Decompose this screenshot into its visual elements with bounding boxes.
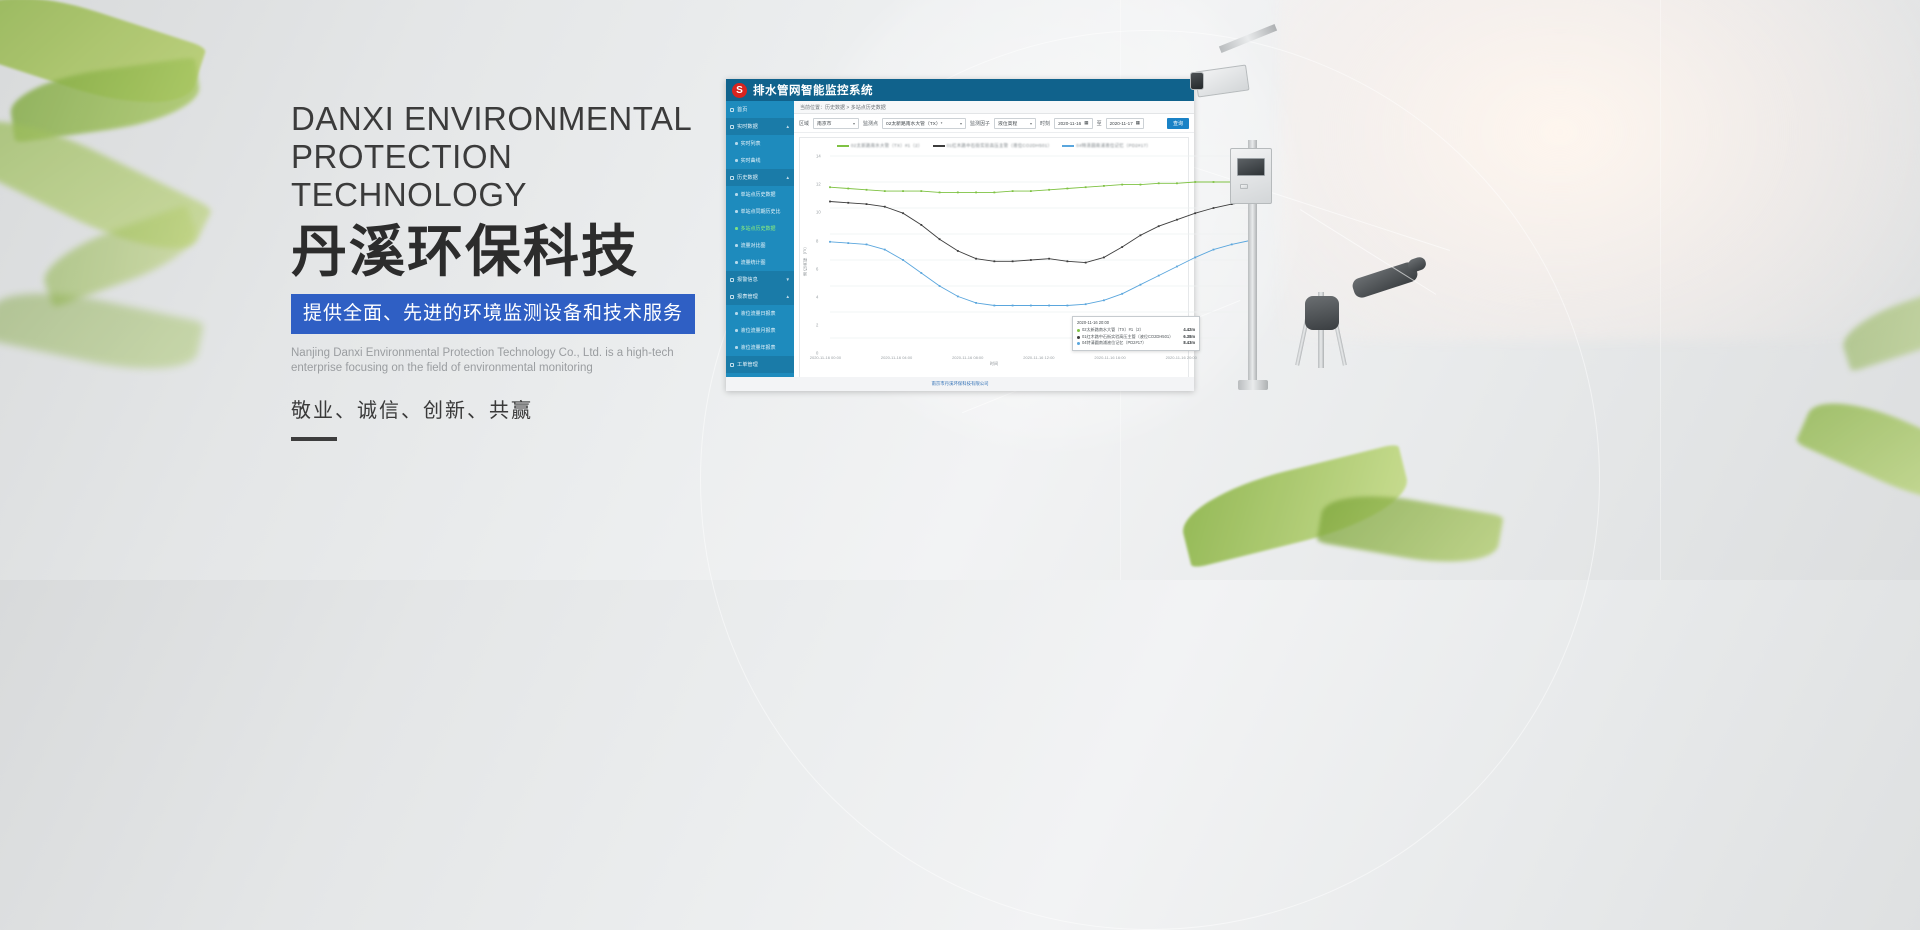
ticket-icon [730, 363, 734, 367]
sidebar-item-label: 实时数据 [737, 123, 758, 130]
region-label: 区域 [799, 120, 809, 127]
data-point [1176, 182, 1178, 184]
data-point [866, 244, 868, 246]
bullet-icon [735, 261, 738, 264]
tooltip-time: 2020-11-16 20:00 [1077, 320, 1195, 326]
sidebar-item-label: 多站点历史数据 [741, 225, 776, 232]
data-point [1066, 188, 1068, 190]
data-point [1103, 299, 1105, 301]
data-point [920, 272, 922, 274]
legend-label: 01红木路中石街实验高压主管（液位CO2DH501） [947, 143, 1053, 149]
metric-label: 监测因子 [970, 120, 990, 127]
data-point [829, 241, 831, 243]
data-point [829, 186, 831, 188]
legend-item-0[interactable]: 02太新路南水大管（TX）#1（2） [837, 143, 923, 149]
history-icon [730, 176, 734, 180]
data-point [1194, 181, 1196, 183]
data-point [1213, 249, 1215, 251]
series-line-2 [830, 241, 1250, 306]
data-point [884, 249, 886, 251]
home-icon [730, 108, 734, 112]
logo-glyph: S [736, 85, 743, 96]
series-line-1 [830, 202, 1250, 263]
leaf-decoration [0, 279, 204, 383]
bullet-icon [735, 346, 738, 349]
data-point [1158, 182, 1160, 184]
tooltip-series-name: 04特清圆南浦液位记忆（PD2#17） [1082, 340, 1146, 346]
sidebar-item-label: 实时曲线 [741, 157, 761, 164]
monitoring-app-window: S 排水管网智能监控系统 首页实时数据▲实时列表实时曲线历史数据▲单站点历史数据… [726, 79, 1194, 391]
sidebar-item-10[interactable]: 报警信息▼ [726, 271, 794, 288]
date-separator: 至 [1097, 120, 1102, 127]
bullet-icon [735, 244, 738, 247]
tagline-ribbon: 提供全面、先进的环境监测设备和技术服务 [291, 294, 695, 334]
sidebar-item-label: 流量对比图 [741, 242, 766, 249]
data-point [866, 203, 868, 205]
sidebar-item-label: 报警信息 [737, 276, 758, 283]
sidebar-item-5[interactable]: 单站点历史数据 [726, 186, 794, 203]
sidebar-nav[interactable]: 首页实时数据▲实时列表实时曲线历史数据▲单站点历史数据单站点同期历史比多站点历史… [726, 101, 794, 391]
chevron-up-icon: ▲ [786, 124, 790, 129]
data-point [1158, 275, 1160, 277]
calendar-icon: ▦ [1136, 120, 1140, 126]
y-tick-label: 4 [816, 294, 818, 299]
sidebar-item-4[interactable]: 历史数据▲ [726, 169, 794, 186]
decor-stripe-2 [1660, 0, 1661, 580]
filter-toolbar: 区域 南京市 ▾ 监测点 02太新路南水大管（TX）* ▾ 监测因子 液位高程 … [794, 114, 1194, 133]
pole-base [1238, 380, 1268, 390]
station-value: 02太新路南水大管（TX）* [886, 120, 943, 127]
data-point [847, 188, 849, 190]
data-point [1176, 219, 1178, 221]
tooltip-row-2: 04特清圆南浦液位记忆（PD2#17）8.43m [1077, 340, 1195, 346]
x-tick-label: 2020-11-16 04:00 [881, 355, 912, 360]
sidebar-item-label: 历史数据 [737, 174, 758, 181]
data-point [1231, 244, 1233, 246]
flow-sensor-body [1305, 296, 1339, 330]
x-tick-label: 2020-11-16 20:00 [1166, 355, 1197, 360]
breadcrumb: 当前位置：历史数据 > 多站点历史数据 [794, 101, 1194, 114]
end-date-input[interactable]: 2020-11-17 ▦ [1106, 118, 1145, 129]
y-tick-label: 12 [816, 182, 821, 187]
station-select[interactable]: 02太新路南水大管（TX）* ▾ [882, 118, 966, 129]
data-point [993, 305, 995, 307]
legend-swatch [933, 145, 945, 146]
data-point [847, 242, 849, 244]
sidebar-item-label: 工单管理 [737, 361, 758, 368]
sidebar-item-2[interactable]: 实时列表 [726, 135, 794, 152]
metric-value: 液位高程 [998, 120, 1017, 127]
data-point [1066, 260, 1068, 262]
data-point [1066, 305, 1068, 307]
data-point [993, 192, 995, 194]
chart-icon [730, 125, 734, 129]
divider-rule [291, 437, 337, 441]
app-titlebar: S 排水管网智能监控系统 [726, 79, 1194, 101]
leaf-decoration [1795, 384, 1920, 520]
app-body: 首页实时数据▲实时列表实时曲线历史数据▲单站点历史数据单站点同期历史比多站点历史… [726, 101, 1194, 391]
data-point [939, 285, 941, 287]
data-point [1030, 190, 1032, 192]
tooltip-rows: 02太新路南水大管（TX）#1（2）4.42m01红木路中石街实验高压主管（液位… [1077, 327, 1195, 346]
sidebar-item-11[interactable]: 报表管理▲ [726, 288, 794, 305]
sidebar-item-label: 液位流量日报表 [741, 310, 776, 317]
cabinet-display [1237, 158, 1265, 176]
data-point [1012, 305, 1014, 307]
chevron-down-icon: ▼ [786, 277, 790, 282]
tooltip-bullet [1077, 342, 1080, 345]
sidebar-item-7[interactable]: 多站点历史数据 [726, 220, 794, 237]
y-tick-label: 8 [816, 238, 818, 243]
sidebar-item-3[interactable]: 实时曲线 [726, 152, 794, 169]
sidebar-item-label: 液位流量月报表 [741, 327, 776, 334]
sidebar-item-9[interactable]: 流量统计图 [726, 254, 794, 271]
data-point [1085, 262, 1087, 264]
data-point [939, 238, 941, 240]
metric-select[interactable]: 液位高程 ▾ [994, 118, 1036, 129]
time-label: 时刻 [1040, 120, 1050, 127]
chevron-down-icon: ▾ [960, 121, 962, 126]
data-point [1103, 185, 1105, 187]
data-point [975, 302, 977, 304]
chevron-down-icon: ▾ [853, 121, 855, 126]
sidebar-item-label: 报表管理 [737, 293, 758, 300]
data-point [1213, 181, 1215, 183]
data-point [884, 190, 886, 192]
legend-label: 04特清圆南浦液位记忆（PD2#17） [1076, 143, 1151, 149]
sidebar-item-label: 实时列表 [741, 140, 761, 147]
data-point [1194, 257, 1196, 259]
data-point [957, 192, 959, 194]
sidebar-item-6[interactable]: 单站点同期历史比 [726, 203, 794, 220]
y-tick-label: 10 [816, 210, 821, 215]
start-date-input[interactable]: 2020-11-16 ▦ [1054, 118, 1093, 129]
bullet-icon [735, 193, 738, 196]
bullet-icon [735, 159, 738, 162]
data-point [920, 224, 922, 226]
sidebar-item-label: 单站点同期历史比 [741, 208, 781, 215]
tooltip-bullet [1077, 329, 1080, 332]
data-point [847, 202, 849, 204]
data-point [975, 258, 977, 260]
bullet-icon [735, 312, 738, 315]
legend-label: 02太新路南水大管（TX）#1（2） [851, 143, 923, 149]
sidebar-item-8[interactable]: 流量对比图 [726, 237, 794, 254]
legend-item-1[interactable]: 01红木路中石街实验高压主管（液位CO2DH501） [933, 143, 1053, 149]
data-point [1194, 212, 1196, 214]
data-point [1121, 246, 1123, 248]
data-point [902, 190, 904, 192]
app-footer: 南京市丹溪环保科技有限公司 [726, 377, 1194, 391]
sidebar-item-15[interactable]: 工单管理 [726, 356, 794, 373]
data-point [1048, 305, 1050, 307]
content-area: 当前位置：历史数据 > 多站点历史数据 区域 南京市 ▾ 监测点 02太新路南水… [794, 101, 1194, 391]
camera-lens [1190, 72, 1204, 90]
legend-item-2[interactable]: 04特清圆南浦液位记忆（PD2#17） [1062, 143, 1151, 149]
data-point [1140, 234, 1142, 236]
legend-swatch [1062, 145, 1074, 146]
chevron-up-icon: ▲ [786, 294, 790, 299]
data-point [866, 189, 868, 191]
data-point [1158, 225, 1160, 227]
bullet-icon [735, 227, 738, 230]
data-point [1176, 266, 1178, 268]
data-point [1103, 257, 1105, 259]
sidebar-item-label: 单站点历史数据 [741, 191, 776, 198]
chevron-down-icon: ▾ [1030, 121, 1032, 126]
sidebar-item-13[interactable]: 液位流量月报表 [726, 322, 794, 339]
bullet-icon [735, 210, 738, 213]
company-motto: 敬业、诚信、创新、共赢 [291, 394, 721, 423]
x-tick-label: 2020-11-16 08:00 [952, 355, 983, 360]
data-point [1140, 284, 1142, 286]
data-point [1121, 184, 1123, 186]
chart-tooltip: 2020-11-16 20:00 02太新路南水大管（TX）#1（2）4.42m… [1072, 316, 1200, 351]
sidebar-item-1[interactable]: 实时数据▲ [726, 118, 794, 135]
data-point [1048, 258, 1050, 260]
bullet-icon [735, 329, 738, 332]
app-title: 排水管网智能监控系统 [753, 82, 873, 98]
y-tick-label: 6 [816, 266, 818, 271]
data-point [1030, 305, 1032, 307]
company-description: Nanjing Danxi Environmental Protection T… [291, 346, 681, 376]
tooltip-series-value: 8.43m [1183, 340, 1195, 346]
data-point [1085, 186, 1087, 188]
data-point [993, 260, 995, 262]
bell-icon [730, 278, 734, 282]
x-axis-title: 时间 [990, 361, 998, 367]
data-point [1012, 260, 1014, 262]
sidebar-item-label: 首页 [737, 106, 747, 113]
data-point [975, 192, 977, 194]
data-point [884, 206, 886, 208]
english-heading: DANXI ENVIRONMENTAL PROTECTION TECHNOLOG… [291, 100, 721, 214]
legend-swatch [837, 145, 849, 146]
data-point [1085, 303, 1087, 305]
data-point [957, 250, 959, 252]
y-tick-label: 14 [816, 154, 821, 159]
y-tick-label: 2 [816, 322, 818, 327]
x-tick-label: 2020-11-16 00:00 [810, 355, 841, 360]
data-point [829, 201, 831, 203]
chart-legend[interactable]: 02太新路南水大管（TX）#1（2）01红木路中石街实验高压主管（液位CO2DH… [800, 138, 1188, 152]
data-point [1213, 207, 1215, 209]
tooltip-bullet [1077, 336, 1080, 339]
region-value: 南京市 [817, 120, 831, 127]
chevron-up-icon: ▲ [786, 175, 790, 180]
sidebar-item-label: 流量统计图 [741, 259, 766, 266]
data-point [957, 296, 959, 298]
chart-card: 02太新路南水大管（TX）#1（2）01红木路中石街实验高压主管（液位CO2DH… [799, 137, 1189, 391]
data-point [902, 259, 904, 261]
report-icon [730, 295, 734, 299]
swirl-logo-icon: S [732, 83, 747, 98]
sidebar-item-14[interactable]: 液位流量年报表 [726, 339, 794, 356]
cabinet-button [1240, 184, 1248, 189]
region-select[interactable]: 南京市 ▾ [813, 118, 859, 129]
station-label: 监测点 [863, 120, 878, 127]
x-tick-label: 2020-11-16 12:00 [1023, 355, 1054, 360]
end-date-value: 2020-11-17 [1110, 121, 1133, 126]
data-point [1140, 184, 1142, 186]
data-point [920, 190, 922, 192]
start-date-value: 2020-11-16 [1058, 121, 1081, 126]
data-point [1030, 259, 1032, 261]
data-point [902, 212, 904, 214]
series-line-0 [830, 182, 1250, 192]
sidebar-item-0[interactable]: 首页 [726, 101, 794, 118]
x-tick-label: 2020-11-16 16:00 [1094, 355, 1125, 360]
data-point [1048, 189, 1050, 191]
sidebar-item-12[interactable]: 液位流量日报表 [726, 305, 794, 322]
marketing-copy: DANXI ENVIRONMENTAL PROTECTION TECHNOLOG… [291, 100, 721, 441]
data-point [939, 192, 941, 194]
chinese-heading: 丹溪环保科技 [291, 220, 721, 284]
bullet-icon [735, 142, 738, 145]
search-button[interactable]: 查询 [1167, 118, 1189, 129]
calendar-icon: ▦ [1084, 120, 1088, 126]
data-point [1012, 190, 1014, 192]
sidebar-item-label: 液位流量年报表 [741, 344, 776, 351]
controller-cabinet [1230, 148, 1272, 204]
data-point [1121, 293, 1123, 295]
